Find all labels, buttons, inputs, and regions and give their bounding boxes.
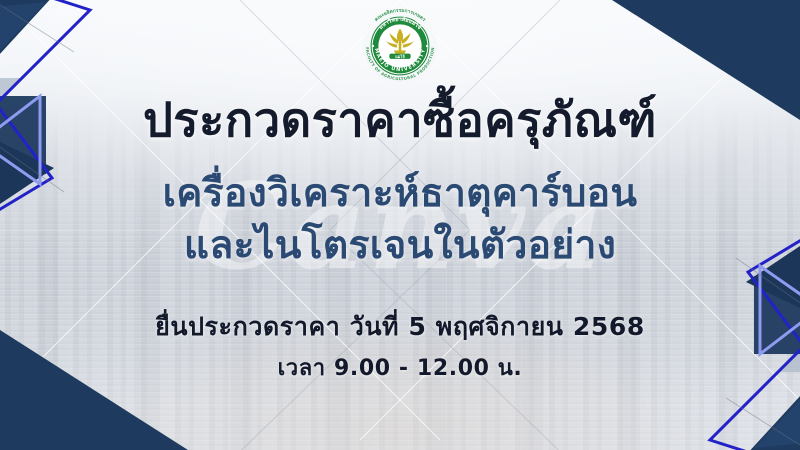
svg-text:แม่โจ้: แม่โจ้	[395, 53, 405, 59]
banner-text-content: ประกวดราคาซื้อครุภัณฑ์ เครื่องวิเคราะห์ธ…	[0, 96, 800, 383]
maejo-university-logo: คณะผลิตกรรมการเกษตร FACULTY OF AGRICULTU…	[362, 8, 438, 84]
banner-headline: ประกวดราคาซื้อครุภัณฑ์	[0, 96, 800, 146]
banner-subtitle-line-2: และไนโตรเจนในตัวอย่าง	[0, 220, 800, 272]
banner-dateline: ยื่นประกวดราคา วันที่ 5 พฤศจิกายน 2568	[0, 312, 800, 342]
banner-subtitle: เครื่องวิเคราะห์ธาตุคาร์บอน และไนโตรเจนใ…	[0, 168, 800, 273]
banner-subtitle-line-1: เครื่องวิเคราะห์ธาตุคาร์บอน	[163, 171, 638, 216]
announcement-banner: Canva	[0, 0, 800, 450]
banner-timeline: เวลา 9.00 - 12.00 น.	[0, 356, 800, 382]
